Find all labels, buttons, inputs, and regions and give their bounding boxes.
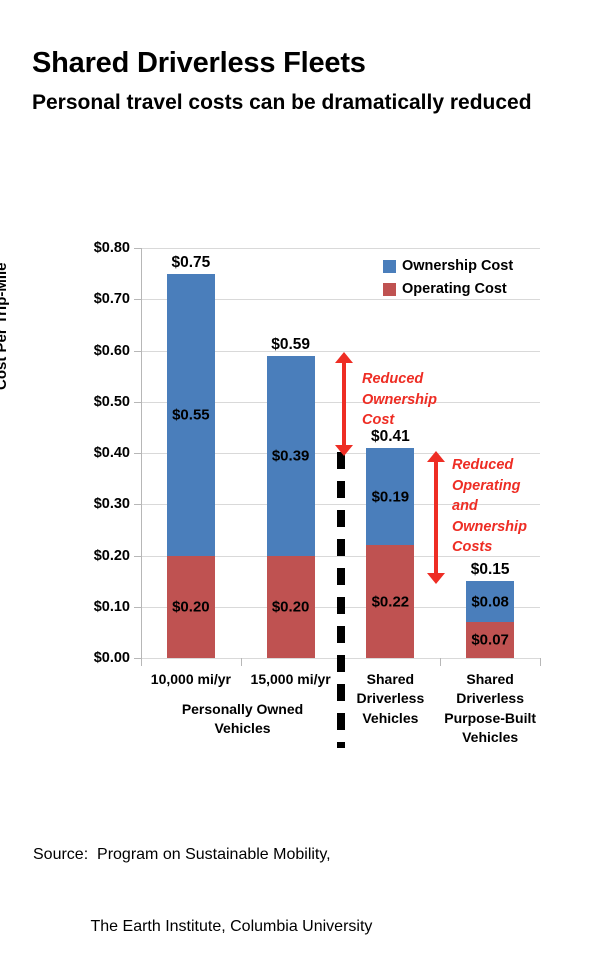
arrow-shaft — [434, 460, 438, 575]
legend-item-ownership[interactable]: Ownership Cost — [383, 256, 513, 276]
legend-swatch-ownership — [383, 260, 396, 273]
x-tick-mark — [241, 658, 242, 666]
x-category-label-line: Purpose-Built — [440, 709, 540, 728]
y-tick-mark — [134, 248, 142, 249]
x-category-label: 10,000 mi/yr — [141, 670, 241, 689]
x-category-label-line: Shared — [440, 670, 540, 689]
bar-segment-label-operating: $0.20 — [167, 598, 215, 615]
y-tick-label: $0.60 — [60, 343, 130, 359]
chart-legend: Ownership Cost Operating Cost — [383, 256, 513, 302]
bar-column[interactable]: $0.20$0.55 — [167, 274, 215, 658]
bar-segment-label-operating: $0.20 — [267, 598, 315, 615]
y-tick-label: $0.80 — [60, 240, 130, 256]
x-category-label: SharedDriverlessPurpose-BuiltVehicles — [440, 670, 540, 747]
bar-segment-operating[interactable]: $0.20 — [167, 556, 215, 659]
bar-segment-ownership[interactable]: $0.19 — [366, 448, 414, 545]
y-tick-label: $0.10 — [60, 599, 130, 615]
bar-segment-ownership[interactable]: $0.08 — [466, 581, 514, 622]
y-tick-label: $0.30 — [60, 496, 130, 512]
bar-column[interactable]: $0.07$0.08 — [466, 581, 514, 658]
y-tick-label: $0.40 — [60, 445, 130, 461]
bar-segment-label-ownership: $0.08 — [466, 593, 514, 610]
bar-segment-label-operating: $0.22 — [366, 593, 414, 610]
group-label-personally-owned: Personally Owned Vehicles — [150, 700, 335, 739]
bar-segment-operating[interactable]: $0.22 — [366, 545, 414, 658]
bar-segment-label-ownership: $0.19 — [366, 488, 414, 505]
bar-segment-operating[interactable]: $0.20 — [267, 556, 315, 659]
x-tick-mark — [141, 658, 142, 666]
annotation-line-2: Operating — [452, 476, 527, 497]
annotation-line-2: Ownership — [362, 390, 437, 411]
bar-segment-label-ownership: $0.55 — [167, 406, 215, 423]
annotation-line-3: Cost — [362, 410, 437, 431]
y-tick-mark — [134, 504, 142, 505]
legend-item-operating[interactable]: Operating Cost — [383, 279, 513, 299]
y-tick-mark — [134, 299, 142, 300]
annotation-line-1: Reduced — [362, 369, 437, 390]
x-category-label-line: Vehicles — [341, 709, 441, 728]
bar-segment-operating[interactable]: $0.07 — [466, 622, 514, 658]
x-category-label-line: Vehicles — [440, 728, 540, 747]
legend-label-ownership: Ownership Cost — [402, 258, 513, 274]
reduced-ownership-annotation: Reduced Ownership Cost — [362, 369, 437, 431]
y-tick-mark — [134, 351, 142, 352]
y-tick-mark — [134, 607, 142, 608]
y-tick-mark — [134, 402, 142, 403]
y-tick-mark — [134, 453, 142, 454]
x-category-label-line: 10,000 mi/yr — [141, 670, 241, 689]
x-category-label-line: Driverless — [341, 689, 441, 708]
x-category-label-line: 15,000 mi/yr — [241, 670, 341, 689]
annotation-line-1: Reduced — [452, 455, 527, 476]
bar-total-label: $0.59 — [253, 336, 329, 354]
source-attribution: Source: Program on Sustainable Mobility,… — [33, 795, 372, 963]
gridline — [141, 248, 540, 249]
source-line-1: Source: Program on Sustainable Mobility, — [33, 843, 372, 867]
x-category-label: 15,000 mi/yr — [241, 670, 341, 689]
bar-total-label: $0.75 — [153, 254, 229, 272]
legend-swatch-operating — [383, 283, 396, 296]
x-category-label: SharedDriverlessVehicles — [341, 670, 441, 728]
y-tick-label: $0.00 — [60, 650, 130, 666]
bar-column[interactable]: $0.22$0.19 — [366, 448, 414, 658]
bar-total-label: $0.15 — [452, 561, 528, 579]
reduced-operating-ownership-arrow — [425, 451, 447, 584]
arrow-head-down-icon — [335, 445, 353, 456]
x-category-label-line: Driverless — [440, 689, 540, 708]
y-axis-labels: $0.00$0.10$0.20$0.30$0.40$0.50$0.60$0.70… — [55, 0, 130, 877]
arrow-head-down-icon — [427, 573, 445, 584]
bar-column[interactable]: $0.20$0.39 — [267, 356, 315, 658]
source-line-2: The Earth Institute, Columbia University — [33, 915, 372, 939]
x-category-label-line: Shared — [341, 670, 441, 689]
y-tick-mark — [134, 556, 142, 557]
arrow-shaft — [342, 361, 346, 447]
bar-segment-label-operating: $0.07 — [466, 632, 514, 649]
y-tick-label: $0.50 — [60, 394, 130, 410]
x-tick-mark — [540, 658, 541, 666]
bar-segment-ownership[interactable]: $0.39 — [267, 356, 315, 556]
reduced-operating-ownership-annotation: Reduced Operating and Ownership Costs — [452, 455, 527, 558]
annotation-line-3: and — [452, 496, 527, 517]
group-label-line-2: Vehicles — [150, 719, 335, 738]
y-tick-mark — [134, 658, 142, 659]
x-tick-mark — [440, 658, 441, 666]
bar-segment-ownership[interactable]: $0.55 — [167, 274, 215, 556]
bar-segment-label-ownership: $0.39 — [267, 447, 315, 464]
reduced-ownership-arrow — [333, 352, 355, 456]
y-tick-label: $0.20 — [60, 548, 130, 564]
group-label-line-1: Personally Owned — [150, 700, 335, 719]
legend-label-operating: Operating Cost — [402, 281, 507, 297]
annotation-line-4: Ownership — [452, 517, 527, 538]
annotation-line-5: Costs — [452, 537, 527, 558]
y-axis-title: Cost Per Trip-Mile — [0, 262, 10, 390]
y-tick-label: $0.70 — [60, 291, 130, 307]
